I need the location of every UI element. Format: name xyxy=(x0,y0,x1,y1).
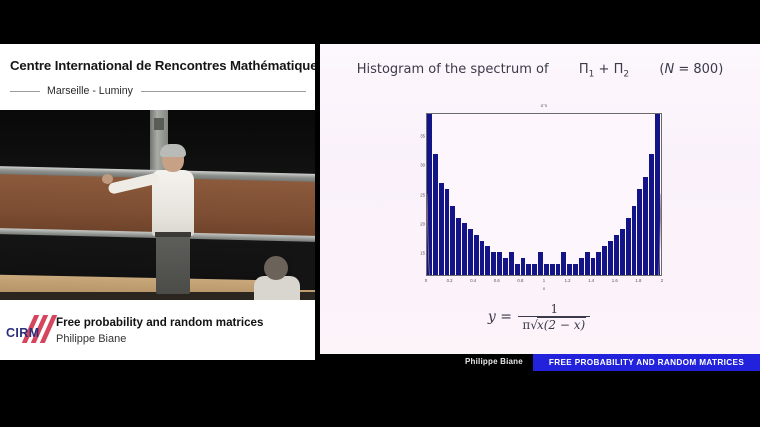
speaker-hair xyxy=(160,144,186,157)
operator-pi-1: Π xyxy=(579,62,589,77)
y-tick-label: 25 xyxy=(420,192,425,197)
formula-radicand: x(2 − x) xyxy=(537,317,586,332)
x-tick-label: 1.4 xyxy=(588,278,594,283)
formula-numerator: 1 xyxy=(518,302,590,316)
n-value: 800 xyxy=(693,62,718,77)
x-axis-label: x xyxy=(426,286,662,291)
institute-location-row: Marseille - Luminy xyxy=(10,84,306,98)
x-tick-label: 0.6 xyxy=(494,278,500,283)
x-tick-label: 0.2 xyxy=(447,278,453,283)
histogram-bar xyxy=(655,114,661,275)
bottom-bar-speaker: Philippe Biane xyxy=(465,357,523,366)
formula-pi: π xyxy=(522,318,530,332)
talk-title: Free probability and random matrices xyxy=(56,316,263,329)
x-tick-label: 1.8 xyxy=(635,278,641,283)
y-tick-label: 20 xyxy=(420,221,425,226)
slide-title-prefix: Histogram of the spectrum of xyxy=(357,62,549,77)
y-tick-label: 35 xyxy=(420,134,425,139)
audience-head xyxy=(264,256,288,280)
x-tick-label: 1.6 xyxy=(612,278,618,283)
x-tick-label: 0 xyxy=(425,278,427,283)
rule-left xyxy=(10,91,40,92)
n-paren-close: ) xyxy=(718,62,723,77)
pillar-fixture xyxy=(154,118,164,130)
formula-equals: = xyxy=(500,309,512,325)
institute-name: Centre International de Rencontres Mathé… xyxy=(10,58,310,73)
n-equals: = xyxy=(678,62,689,77)
institute-location: Marseille - Luminy xyxy=(47,85,133,97)
y-tick-label: 30 xyxy=(420,163,425,168)
operator-pi-1-subscript: 1 xyxy=(589,70,595,80)
bottom-bar-accent: FREE PROBABILITY AND RANDOM MATRICES xyxy=(533,354,760,371)
speaker-figure xyxy=(148,146,200,296)
n-symbol: N xyxy=(664,62,674,77)
operator-pi-2: Π xyxy=(614,62,624,77)
plot-title: σ's xyxy=(420,103,668,108)
formula-fraction: 1 π√x(2 − x) xyxy=(518,302,590,332)
bottom-status-bar: Philippe Biane FREE PROBABILITY AND RAND… xyxy=(320,354,760,371)
speaker-legs xyxy=(156,234,190,294)
plot-frame xyxy=(426,113,662,276)
slide-panel: Histogram of the spectrum of Π1 + Π2 (N … xyxy=(320,44,760,354)
x-tick-label: 0.8 xyxy=(517,278,523,283)
speaker-hand xyxy=(102,174,113,184)
left-panel: Centre International de Rencontres Mathé… xyxy=(0,44,315,360)
speaker-belt xyxy=(155,232,191,237)
audience-member xyxy=(252,250,315,300)
histogram-bars xyxy=(427,114,661,275)
video-player-stage: Centre International de Rencontres Mathé… xyxy=(0,0,760,427)
formula-lhs: y xyxy=(488,309,496,325)
x-tick-label: 0.4 xyxy=(470,278,476,283)
x-tick-label: 1 xyxy=(543,278,545,283)
lecture-video-still[interactable] xyxy=(0,110,315,300)
rule-right xyxy=(141,91,306,92)
y-tick-label: 15 xyxy=(420,250,425,255)
x-tick-label: 2 xyxy=(661,278,663,283)
bottom-bar-title: FREE PROBABILITY AND RANDOM MATRICES xyxy=(533,358,760,367)
formula-denominator: π√x(2 − x) xyxy=(518,316,590,332)
operator-pi-2-subscript: 2 xyxy=(623,70,629,80)
x-tick-label: 1.2 xyxy=(565,278,571,283)
talk-speaker: Philippe Biane xyxy=(56,333,126,345)
density-formula: y = 1 π√x(2 − x) xyxy=(320,302,760,332)
talk-caption: CIRM Free probability and random matrice… xyxy=(0,300,315,360)
cirm-logo: CIRM xyxy=(6,314,52,344)
logo-text: CIRM xyxy=(6,326,40,340)
plus-sign: + xyxy=(599,62,610,77)
slide-title: Histogram of the spectrum of Π1 + Π2 (N … xyxy=(320,62,760,80)
cirm-header: Centre International de Rencontres Mathé… xyxy=(0,44,315,110)
histogram-plot: σ's 1520253035 00.20.40.60.811.21.41.61.… xyxy=(420,104,668,299)
